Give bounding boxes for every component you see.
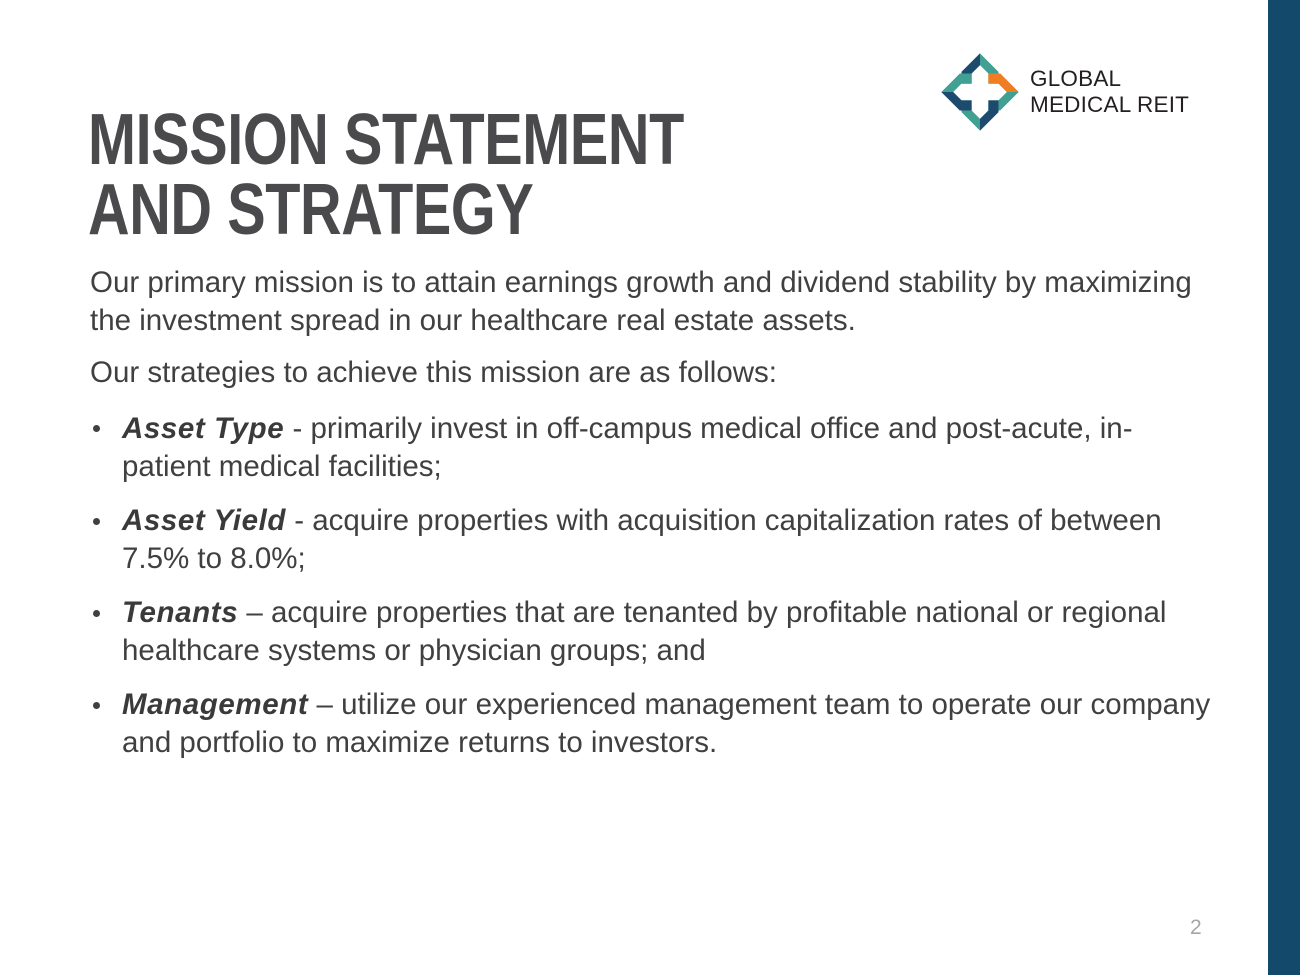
right-accent-bar — [1268, 0, 1300, 975]
logo-wordmark-line1: GLOBAL — [1030, 66, 1189, 92]
page-title: MISSION STATEMENT AND STRATEGY — [88, 106, 728, 246]
list-item: Tenants – acquire properties that are te… — [90, 594, 1220, 670]
list-item: Management – utilize our experienced man… — [90, 686, 1220, 762]
strategy-bullet-list: Asset Type - primarily invest in off-cam… — [90, 410, 1220, 762]
bullet-lead-label: Asset Type — [122, 412, 284, 445]
bullet-dot-icon — [93, 702, 100, 709]
bullet-dot-icon — [93, 425, 100, 432]
page-number: 2 — [1190, 916, 1202, 940]
global-medical-reit-cross-pinwheel-icon — [938, 50, 1022, 134]
bullet-lead-label: Asset Yield — [122, 504, 286, 537]
company-logo: GLOBAL MEDICAL REIT — [938, 46, 1194, 138]
strategies-intro-paragraph: Our strategies to achieve this mission a… — [90, 354, 1220, 392]
bullet-dot-icon — [93, 518, 100, 525]
bullet-body-text: – acquire properties that are tenanted b… — [122, 596, 1166, 667]
bullet-lead-label: Tenants — [122, 596, 238, 629]
mission-paragraph: Our primary mission is to attain earning… — [90, 264, 1220, 340]
bullet-dot-icon — [93, 610, 100, 617]
logo-wordmark-line2: MEDICAL REIT — [1030, 92, 1189, 118]
list-item: Asset Yield - acquire properties with ac… — [90, 502, 1220, 578]
slide: GLOBAL MEDICAL REIT MISSION STATEMENT AN… — [0, 0, 1300, 975]
list-item: Asset Type - primarily invest in off-cam… — [90, 410, 1220, 486]
slide-body: Our primary mission is to attain earning… — [90, 264, 1220, 763]
bullet-lead-label: Management — [122, 688, 308, 721]
logo-wordmark: GLOBAL MEDICAL REIT — [1030, 66, 1189, 117]
